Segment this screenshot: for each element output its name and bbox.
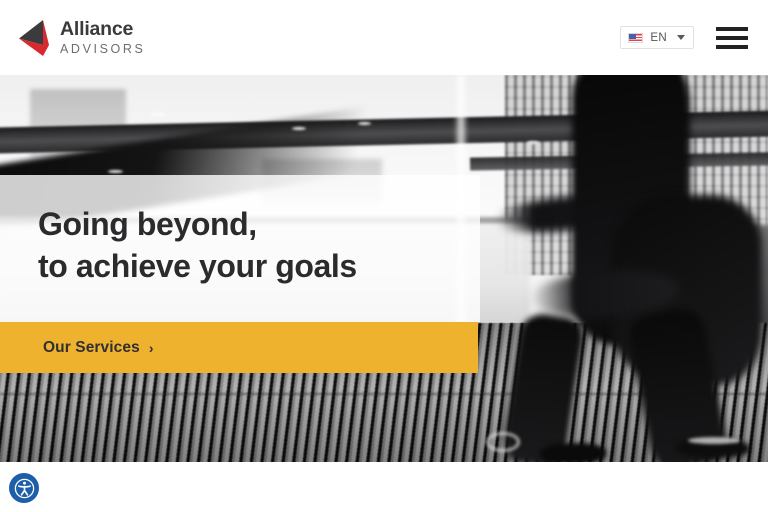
our-services-cta-button[interactable]: Our Services › xyxy=(0,322,478,373)
site-header: Alliance ADVISORS EN xyxy=(0,0,768,75)
hero-headline: Going beyond, to achieve your goals xyxy=(38,203,357,287)
us-flag-icon xyxy=(628,33,643,43)
page-bottom-strip xyxy=(0,462,768,512)
accessibility-icon[interactable] xyxy=(9,473,39,503)
hero-section: Going beyond, to achieve your goals Our … xyxy=(0,75,768,462)
hamburger-menu-icon[interactable] xyxy=(716,27,748,49)
alliance-advisors-logo-mark xyxy=(18,19,51,57)
chevron-down-icon xyxy=(677,35,685,40)
brand-subtitle: ADVISORS xyxy=(60,43,145,56)
language-code: EN xyxy=(650,32,667,44)
chevron-right-icon: › xyxy=(149,340,154,356)
cta-label: Our Services xyxy=(43,339,140,357)
brand-wordmark: Alliance ADVISORS xyxy=(60,20,145,55)
language-selector[interactable]: EN xyxy=(620,26,694,49)
hero-text-panel: Going beyond, to achieve your goals xyxy=(0,175,480,322)
brand-logo[interactable]: Alliance ADVISORS xyxy=(18,19,145,57)
header-actions: EN xyxy=(620,26,748,49)
brand-name: Alliance xyxy=(60,20,145,40)
